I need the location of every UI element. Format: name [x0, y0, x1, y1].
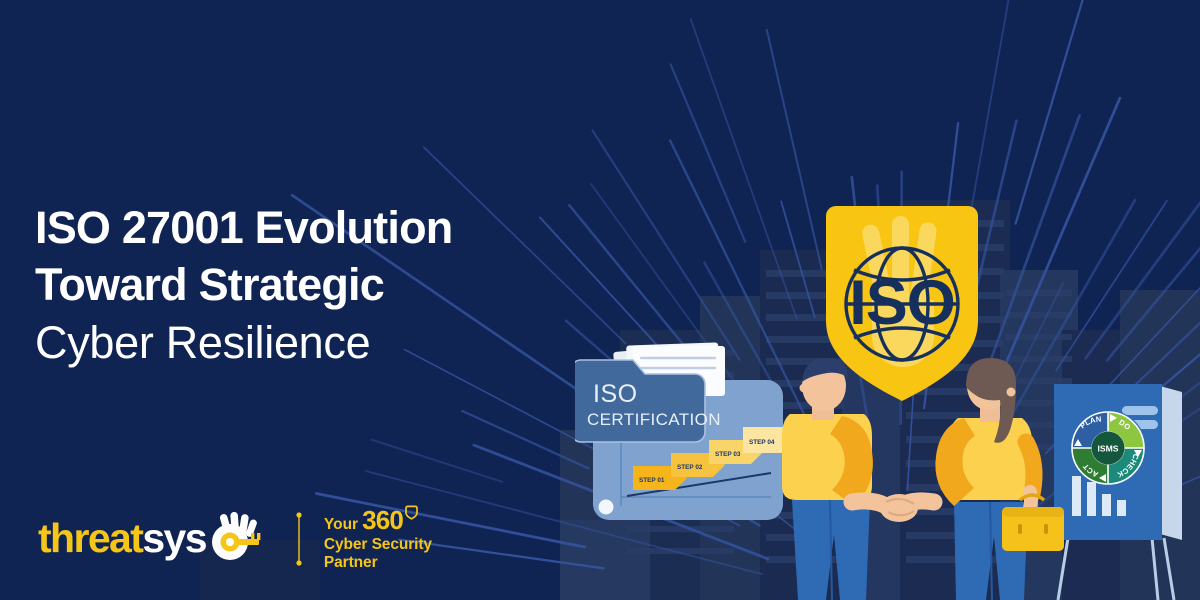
wordmark-sys: sys	[142, 518, 206, 559]
pdca-center-label: ISMS	[1097, 443, 1118, 453]
folder-title-line2: CERTIFICATION	[587, 410, 721, 429]
tagline-row-2: Cyber Security	[324, 536, 432, 554]
brand-lockup[interactable]: threat sys Your 360	[38, 505, 432, 572]
pdca-easel-board: ISMS PLAN DO CHECK ACT	[1046, 378, 1200, 600]
headline-line-1: ISO 27001 Evolution	[35, 200, 575, 257]
header-bar-1	[1122, 406, 1158, 415]
brand-divider	[296, 511, 302, 567]
threatsys-wordmark[interactable]: threat sys	[38, 518, 206, 559]
headline-line-3: Cyber Resilience	[35, 315, 575, 372]
pdca-wheel: ISMS PLAN DO CHECK ACT	[1070, 410, 1146, 486]
clasped-hands	[880, 494, 918, 522]
businesswoman-right	[896, 358, 1064, 600]
page-title: ISO 27001 Evolution Toward Strategic Cyb…	[35, 200, 575, 372]
folder-title-line1: ISO	[593, 380, 638, 408]
tagline-row-3: Partner	[324, 554, 432, 572]
banner-root: ISO CERTIFICATION STEP 01 STEP 02 STEP 0…	[0, 0, 1200, 600]
step-label-2: STEP 02	[677, 464, 703, 471]
brand-tagline: Your 360 Cyber Security Partner	[324, 505, 432, 572]
step-label-1: STEP 01	[639, 477, 665, 484]
shield-iso-label: ISO	[849, 268, 955, 338]
hand-ok-key-icon	[204, 512, 266, 566]
businessman-left	[782, 358, 890, 600]
handshake-people-illustration	[768, 352, 1068, 600]
wordmark-threat: threat	[38, 518, 142, 559]
tagline-row-1: Your 360	[324, 505, 432, 536]
headline-line-2: Toward Strategic	[35, 257, 575, 314]
shield-degree-icon	[404, 505, 419, 520]
step-label-3: STEP 03	[715, 451, 741, 458]
tagline-360: 360	[362, 505, 403, 536]
tagline-your: Your	[324, 516, 358, 534]
